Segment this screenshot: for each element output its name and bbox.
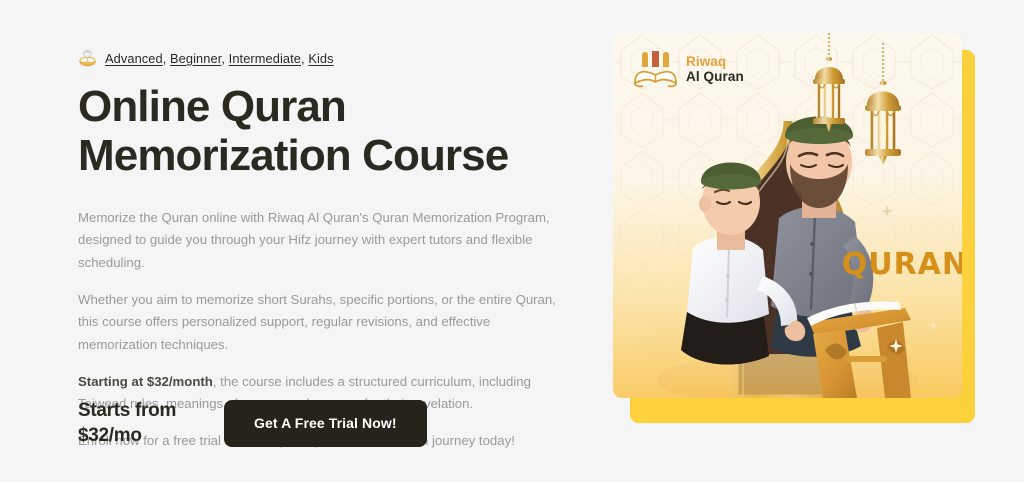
breadcrumb-link-intermediate[interactable]: Intermediate: [229, 51, 301, 66]
page-title-line-2: Memorization Course: [78, 131, 548, 180]
page-title-line-1: Online Quran: [78, 82, 548, 131]
promo-image-block: QURAN Riwaq Al Quran: [613, 33, 975, 423]
breadcrumb-link-beginner[interactable]: Beginner: [170, 51, 221, 66]
pricing-lead-bold: Starting at $32/month: [78, 374, 213, 389]
quran-book-icon: [78, 49, 97, 68]
landing-page: Advanced, Beginner, Intermediate, Kids O…: [0, 0, 1024, 482]
logo-text: Riwaq Al Quran: [686, 55, 744, 84]
quran-overlay-word: QURAN: [842, 247, 962, 282]
logo-name-bottom: Al Quran: [686, 70, 744, 85]
breadcrumb-separator-1: ,: [163, 51, 170, 66]
sparkle-star-icon-3: [929, 321, 938, 330]
paragraph-scope: Whether you aim to memorize short Surahs…: [78, 289, 556, 357]
breadcrumb-links: Advanced, Beginner, Intermediate, Kids: [105, 51, 334, 66]
promo-card: QURAN Riwaq Al Quran: [613, 33, 962, 398]
sparkle-star-icon-2: [889, 339, 903, 353]
content-column: Advanced, Beginner, Intermediate, Kids O…: [78, 48, 578, 453]
cta-row: Starts from $32/mo Get A Free Trial Now!: [78, 398, 427, 448]
free-trial-button[interactable]: Get A Free Trial Now!: [224, 400, 427, 447]
breadcrumb-separator-2: ,: [221, 51, 228, 66]
page-title: Online Quran Memorization Course: [78, 82, 548, 181]
sparkle-star-icon-1: [881, 205, 893, 217]
hanging-lantern-right-icon: [861, 43, 905, 171]
breadcrumb-link-advanced[interactable]: Advanced: [105, 51, 163, 66]
riwaq-al-quran-logo: Riwaq Al Quran: [633, 51, 744, 89]
price-amount: $32/mo: [78, 423, 224, 448]
hanging-lantern-left-icon: [809, 33, 849, 141]
paragraph-intro: Memorize the Quran online with Riwaq Al …: [78, 207, 556, 275]
breadcrumb: Advanced, Beginner, Intermediate, Kids: [78, 48, 578, 68]
price-block: Starts from $32/mo: [78, 398, 224, 448]
open-book-mosque-icon: [633, 51, 679, 89]
price-label: Starts from: [78, 398, 224, 423]
breadcrumb-link-kids[interactable]: Kids: [308, 51, 333, 66]
logo-name-top: Riwaq: [686, 55, 744, 70]
